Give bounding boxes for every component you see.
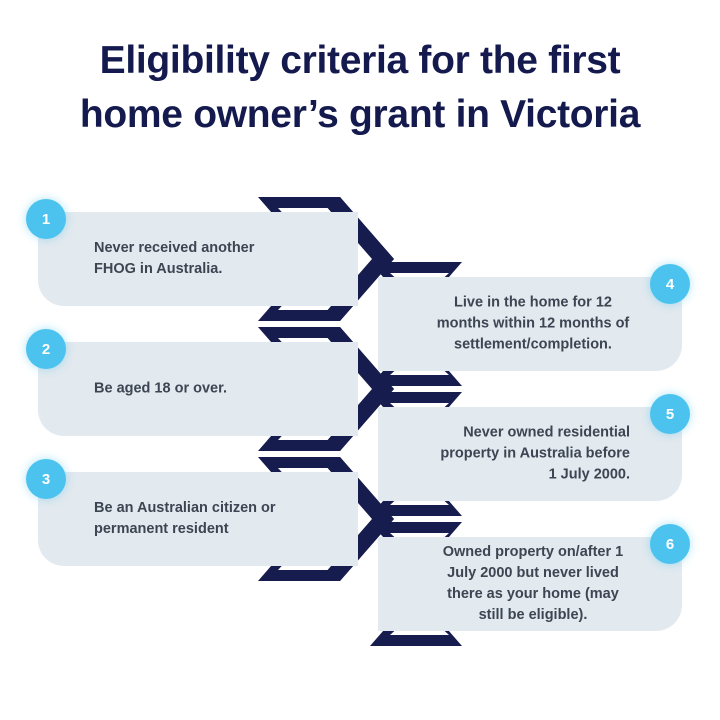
criteria-number-1: 1 (42, 211, 50, 228)
criteria-card-3[interactable]: Be an Australian citizen or permanent re… (38, 472, 358, 566)
criteria-badge-4: 4 (650, 264, 690, 304)
criteria-number-5: 5 (666, 406, 674, 423)
infographic-canvas: Eligibility criteria for the first home … (0, 0, 720, 720)
criteria-card-2[interactable]: Be aged 18 or over. (38, 342, 358, 436)
criteria-card-1[interactable]: Never received another FHOG in Australia… (38, 212, 358, 306)
criteria-text-6: Owned property on/after 1 July 2000 but … (378, 542, 682, 626)
criteria-number-3: 3 (42, 471, 50, 488)
criteria-card-4[interactable]: Live in the home for 12 months within 12… (378, 277, 682, 371)
criteria-number-2: 2 (42, 341, 50, 358)
criteria-badge-3: 3 (26, 459, 66, 499)
criteria-text-4: Live in the home for 12 months within 12… (378, 293, 682, 356)
page-title-line-2: home owner’s grant in Victoria (0, 88, 720, 142)
criteria-text-1: Never received another FHOG in Australia… (38, 238, 358, 280)
criteria-number-4: 4 (666, 276, 674, 293)
criteria-text-2: Be aged 18 or over. (38, 379, 358, 400)
criteria-card-5[interactable]: Never owned residential property in Aust… (378, 407, 682, 501)
criteria-text-5: Never owned residential property in Aust… (378, 423, 682, 486)
criteria-card-6[interactable]: Owned property on/after 1 July 2000 but … (378, 537, 682, 631)
criteria-badge-5: 5 (650, 394, 690, 434)
page-title: Eligibility criteria for the first home … (0, 34, 720, 142)
criteria-number-6: 6 (666, 536, 674, 553)
criteria-badge-1: 1 (26, 199, 66, 239)
criteria-text-3: Be an Australian citizen or permanent re… (38, 498, 358, 540)
criteria-badge-6: 6 (650, 524, 690, 564)
criteria-badge-2: 2 (26, 329, 66, 369)
page-title-line-1: Eligibility criteria for the first (0, 34, 720, 88)
